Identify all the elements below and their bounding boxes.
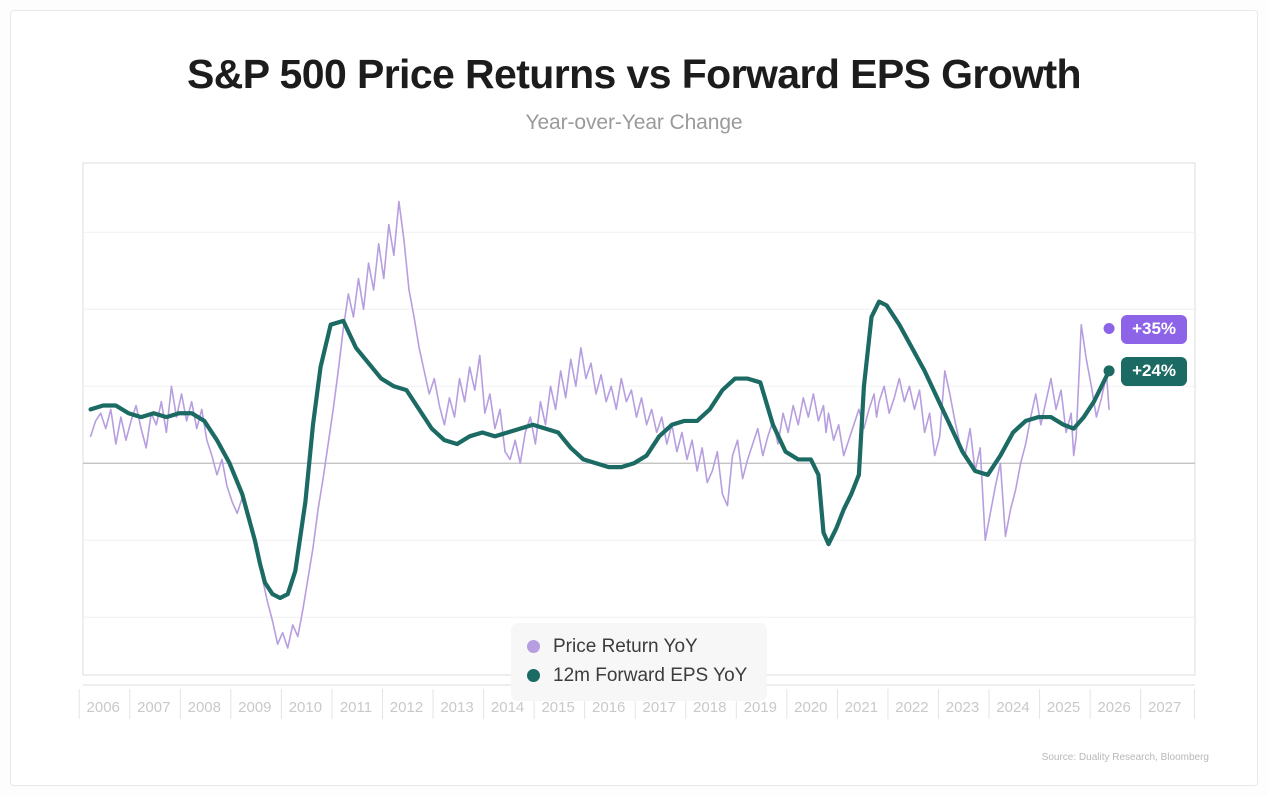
chart-card: S&P 500 Price Returns vs Forward EPS Gro… bbox=[10, 10, 1258, 786]
x-axis-tick-label: 2026 bbox=[1097, 699, 1130, 716]
x-axis-tick-label: 2022 bbox=[895, 699, 928, 716]
x-axis-tick-label: 2011 bbox=[340, 699, 372, 716]
chart-legend: Price Return YoY 12m Forward EPS YoY bbox=[511, 623, 767, 701]
eps-growth-end-label: +24% bbox=[1121, 357, 1187, 386]
legend-item-price-return[interactable]: Price Return YoY bbox=[527, 632, 747, 661]
page-title: S&P 500 Price Returns vs Forward EPS Gro… bbox=[11, 51, 1257, 98]
x-axis-tick-label: 2021 bbox=[845, 699, 878, 716]
x-axis-tick-label: 2018 bbox=[693, 699, 726, 716]
legend-item-eps-growth[interactable]: 12m Forward EPS YoY bbox=[527, 661, 747, 690]
price-return-end-dot bbox=[1104, 323, 1115, 334]
x-axis-tick-label: 2016 bbox=[592, 699, 625, 716]
legend-label-eps-growth: 12m Forward EPS YoY bbox=[553, 665, 747, 687]
x-axis-tick-label: 2020 bbox=[794, 699, 827, 716]
x-axis-tick-label: 2008 bbox=[188, 699, 221, 716]
x-axis-tick-label: 2014 bbox=[491, 699, 524, 716]
x-axis-tick-label: 2013 bbox=[440, 699, 473, 716]
legend-color-swatch-price-return bbox=[527, 640, 540, 653]
x-axis-tick-label: 2012 bbox=[390, 699, 423, 716]
x-axis-tick-label: 2007 bbox=[137, 699, 170, 716]
x-axis-tick-label: 2015 bbox=[541, 699, 574, 716]
x-axis-tick-label: 2010 bbox=[289, 699, 322, 716]
x-axis-tick-label: 2009 bbox=[238, 699, 271, 716]
x-axis-tick-label: 2025 bbox=[1047, 699, 1080, 716]
eps-growth-end-dot bbox=[1104, 365, 1115, 376]
x-axis-tick-label: 2023 bbox=[946, 699, 979, 716]
x-axis-tick-label: 2024 bbox=[996, 699, 1029, 716]
chart-screenshot: S&P 500 Price Returns vs Forward EPS Gro… bbox=[0, 0, 1268, 796]
source-attribution: Source: Duality Research, Bloomberg bbox=[1042, 752, 1209, 763]
legend-label-price-return: Price Return YoY bbox=[553, 636, 698, 658]
x-axis-tick-label: 2006 bbox=[87, 699, 120, 716]
price-return-end-label: +35% bbox=[1121, 315, 1187, 344]
x-axis-tick-label: 2017 bbox=[643, 699, 676, 716]
legend-color-swatch-eps-growth bbox=[527, 669, 540, 682]
x-axis-tick-label: 2027 bbox=[1148, 699, 1181, 716]
x-axis-tick-label: 2019 bbox=[744, 699, 777, 716]
chart-subtitle: Year-over-Year Change bbox=[11, 111, 1257, 135]
